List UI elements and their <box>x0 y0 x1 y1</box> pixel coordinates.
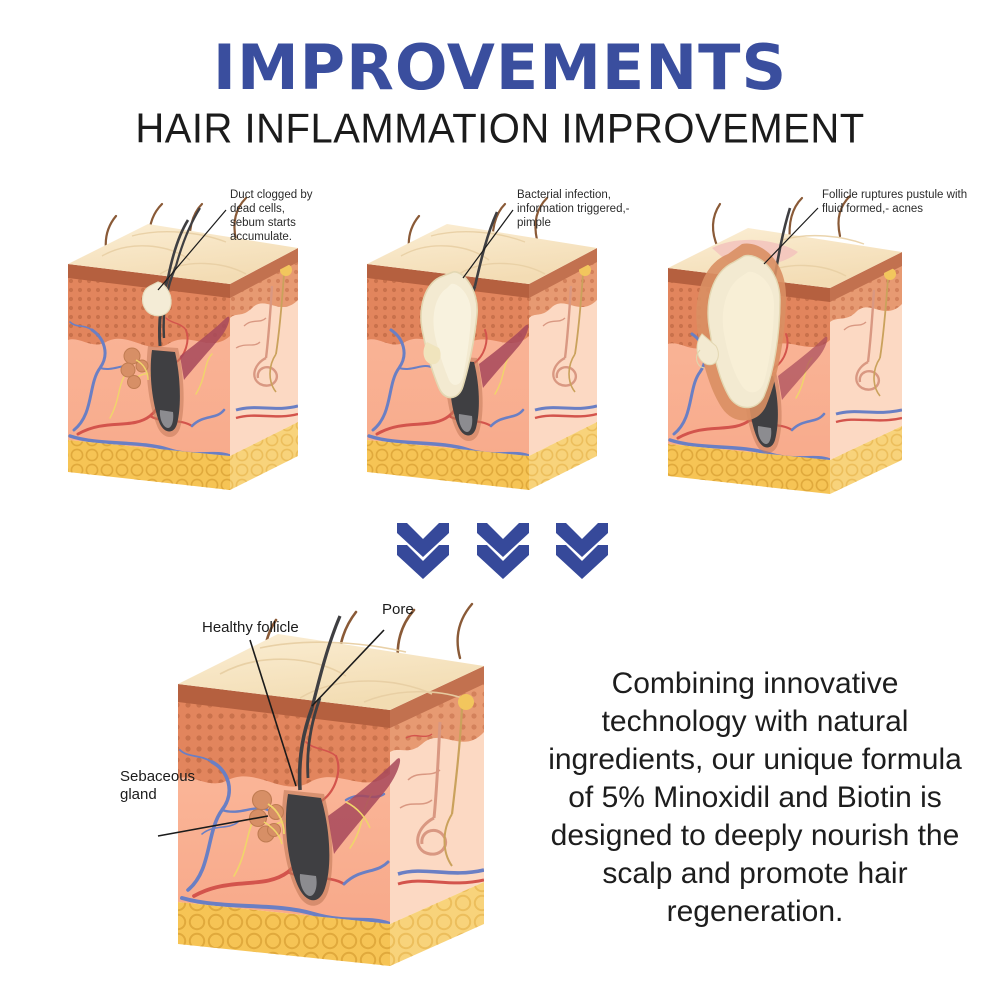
page-subtitle: HAIR INFLAMMATION IMPROVEMENT <box>0 105 1000 153</box>
stage-callout-1: Duct clogged by dead cells, sebum starts… <box>230 188 340 244</box>
stage-callout-2: Bacterial infection, information trigger… <box>517 188 650 230</box>
stage-callout-3: Follicle ruptures pustule with fluid for… <box>822 188 967 216</box>
skin-cross-section-diagram-3 <box>650 178 970 508</box>
header: IMPROVEMENTS HAIR INFLAMMATION IMPROVEME… <box>0 0 1000 152</box>
label-sebaceous-gland: Sebaceous gland <box>120 768 195 804</box>
healthy-skin-cross-section <box>150 590 550 970</box>
product-description-paragraph: Combining innovative technology with nat… <box>545 665 965 931</box>
healthy-skin-block: Healthy follicle Pore Sebaceous gland <box>150 590 550 970</box>
page-title: IMPROVEMENTS <box>0 34 1000 102</box>
infographic-page: IMPROVEMENTS HAIR INFLAMMATION IMPROVEME… <box>0 0 1000 1000</box>
label-healthy-follicle: Healthy follicle <box>202 619 299 637</box>
double-chevron-down-icon-2 <box>475 519 531 581</box>
label-pore: Pore <box>382 601 414 619</box>
double-chevron-down-icon-3 <box>554 519 610 581</box>
double-chevron-down-icon-1 <box>395 519 451 581</box>
progression-arrows <box>395 515 610 585</box>
stage-ruptured-follicle: Follicle ruptures pustule with fluid for… <box>650 178 970 508</box>
stage-clogged-duct: Duct clogged by dead cells, sebum starts… <box>40 178 340 508</box>
stage-bacterial-infection: Bacterial infection, information trigger… <box>345 178 650 508</box>
